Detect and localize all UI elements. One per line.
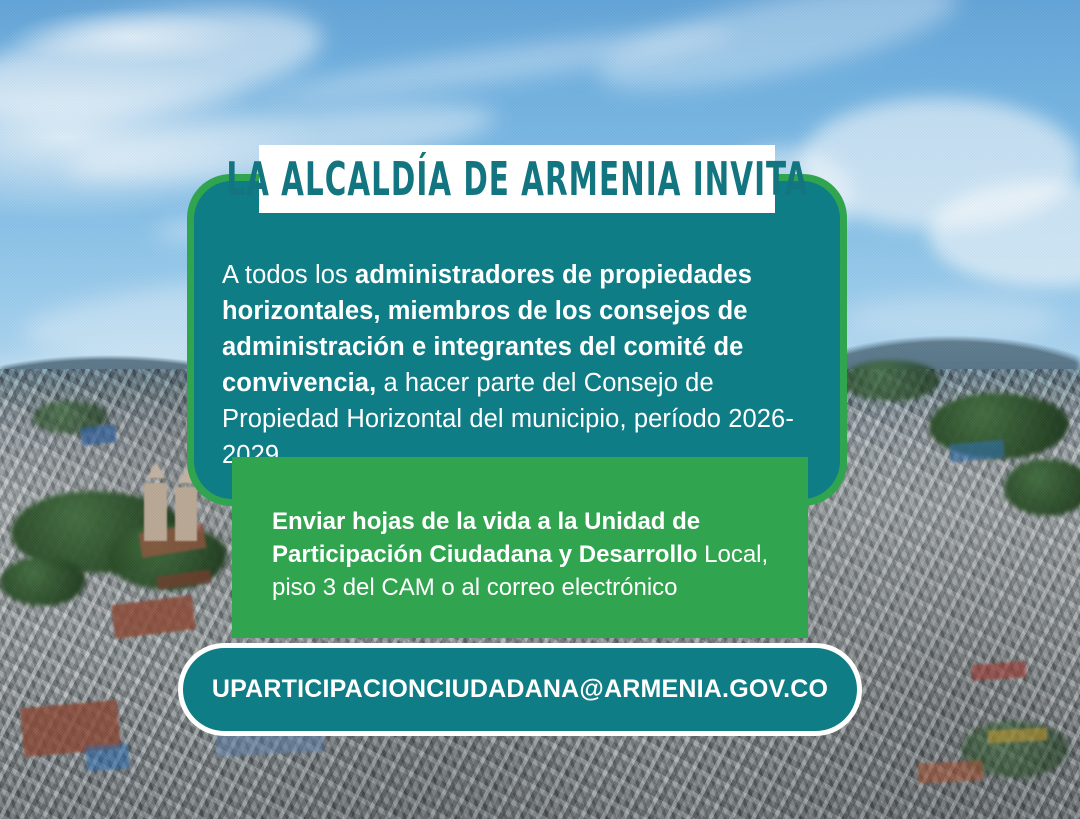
poster: LA ALCALDÍA DE ARMENIA INVITA A todos lo… xyxy=(0,0,1080,819)
church-spire xyxy=(147,462,165,478)
invitation-paragraph: A todos los administradores de propiedad… xyxy=(222,257,824,473)
roof-accent xyxy=(80,424,116,446)
paragraph-lead: A todos los xyxy=(222,261,355,289)
instructions-paragraph: Enviar hojas de la vida a la Unidad de P… xyxy=(272,505,796,604)
title-banner: LA ALCALDÍA DE ARMENIA INVITA xyxy=(259,145,775,213)
email-pill[interactable]: UPARTICIPACIONCIUDADANA@ARMENIA.GOV.CO xyxy=(178,643,862,736)
roof-accent xyxy=(918,760,984,783)
page-title: LA ALCALDÍA DE ARMENIA INVITA xyxy=(226,156,808,202)
roof-accent xyxy=(86,744,131,772)
church-tower xyxy=(144,483,168,540)
instructions-emphasis: Enviar hojas de la vida a la Unidad de P… xyxy=(272,508,700,568)
email-address: UPARTICIPACIONCIUDADANA@ARMENIA.GOV.CO xyxy=(212,675,828,704)
tree-cluster xyxy=(1004,459,1080,516)
church-tower xyxy=(175,487,197,540)
